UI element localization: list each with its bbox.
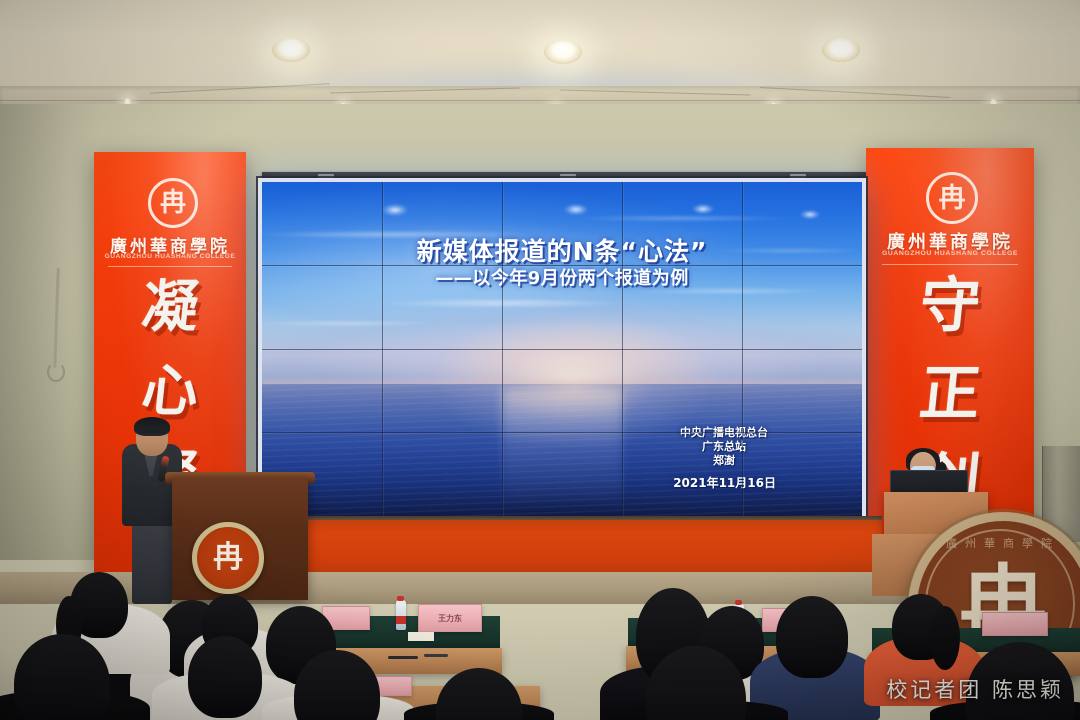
slide-subtitle: ——以今年9月份两个报道为例: [262, 264, 862, 290]
screen-lamp-reflection: [564, 204, 588, 215]
audience-head: [776, 596, 848, 678]
banner-divider: [882, 264, 1018, 265]
stage-backdrop-panel: [246, 520, 882, 578]
ceiling-seam: [0, 100, 1080, 101]
wall-shadow: [0, 104, 100, 560]
lecture-hall-photo: 冉 廣州華商學院 GUANGZHOU HUASHANG COLLEGE 凝 心 …: [0, 0, 1080, 720]
audience-head: [436, 668, 522, 720]
rail-clip: [790, 174, 806, 181]
emblem-glyph: 冉: [939, 185, 966, 212]
slide-credit-line-2: 广东总站: [680, 440, 768, 454]
slide-credit-line-3: 郑澍: [680, 454, 768, 468]
screen-lamp-reflection: [692, 204, 714, 214]
bottle-cap: [397, 596, 404, 601]
podium-emblem-glyph: 冉: [213, 543, 243, 573]
podium-emblem-icon: 冉: [192, 522, 264, 594]
speaker-glasses: [139, 431, 165, 439]
banner-right-slogan-char-1: 正: [866, 364, 1034, 424]
ceiling-downlight: [544, 40, 582, 64]
bottle-cap: [735, 600, 742, 605]
banner-right-slogan-char-0: 守: [866, 276, 1034, 336]
slide-sun-glint: [502, 389, 622, 509]
audience-ponytail: [930, 606, 960, 670]
slide-title: 新媒体报道的N条“心法”: [262, 232, 862, 268]
photographer-credit-watermark: 校记者团 陈思颖: [886, 674, 1064, 704]
banner-left-slogan-char-0: 凝: [94, 280, 246, 336]
rail-clip: [560, 174, 576, 181]
screen-lamp-reflection: [382, 204, 408, 216]
video-wall-bezel-h: [262, 265, 862, 266]
video-wall-display[interactable]: 新媒体报道的N条“心法” ——以今年9月份两个报道为例 中央广播电视总台 广东总…: [262, 182, 862, 516]
nameplate-text: 王力东: [438, 613, 462, 624]
slide-date: 2021年11月16日: [673, 474, 776, 491]
video-wall-bezel-h: [262, 432, 862, 433]
pen: [424, 654, 448, 657]
rail-clip: [318, 174, 334, 181]
banner-left-slogan-char-1: 心: [94, 364, 246, 420]
nameplate: [982, 612, 1048, 636]
screen-lamp-reflection: [800, 210, 820, 219]
emblem-glyph: 冉: [160, 190, 186, 216]
seal-college-cn: 廣州華商學院: [917, 535, 1080, 551]
college-emblem-icon: 冉: [148, 178, 198, 228]
pen: [388, 656, 418, 659]
video-wall-bezel-h: [262, 349, 862, 350]
ceiling-downlight: [272, 38, 310, 62]
banner-left-college-en: GUANGZHOU HUASHANG COLLEGE: [94, 253, 246, 260]
water-bottle: [396, 600, 406, 630]
wall-hook: [47, 362, 65, 382]
banner-right-college-en: GUANGZHOU HUASHANG COLLEGE: [866, 250, 1034, 257]
slide-credit-line-1: 中央广播电视总台: [680, 426, 768, 440]
nameplate: 王力东: [418, 604, 482, 632]
ceiling-downlight: [822, 38, 860, 62]
paper-sheet: [408, 632, 434, 641]
banner-divider: [108, 266, 232, 267]
college-emblem-icon: 冉: [926, 172, 978, 224]
audience-head: [188, 636, 262, 718]
